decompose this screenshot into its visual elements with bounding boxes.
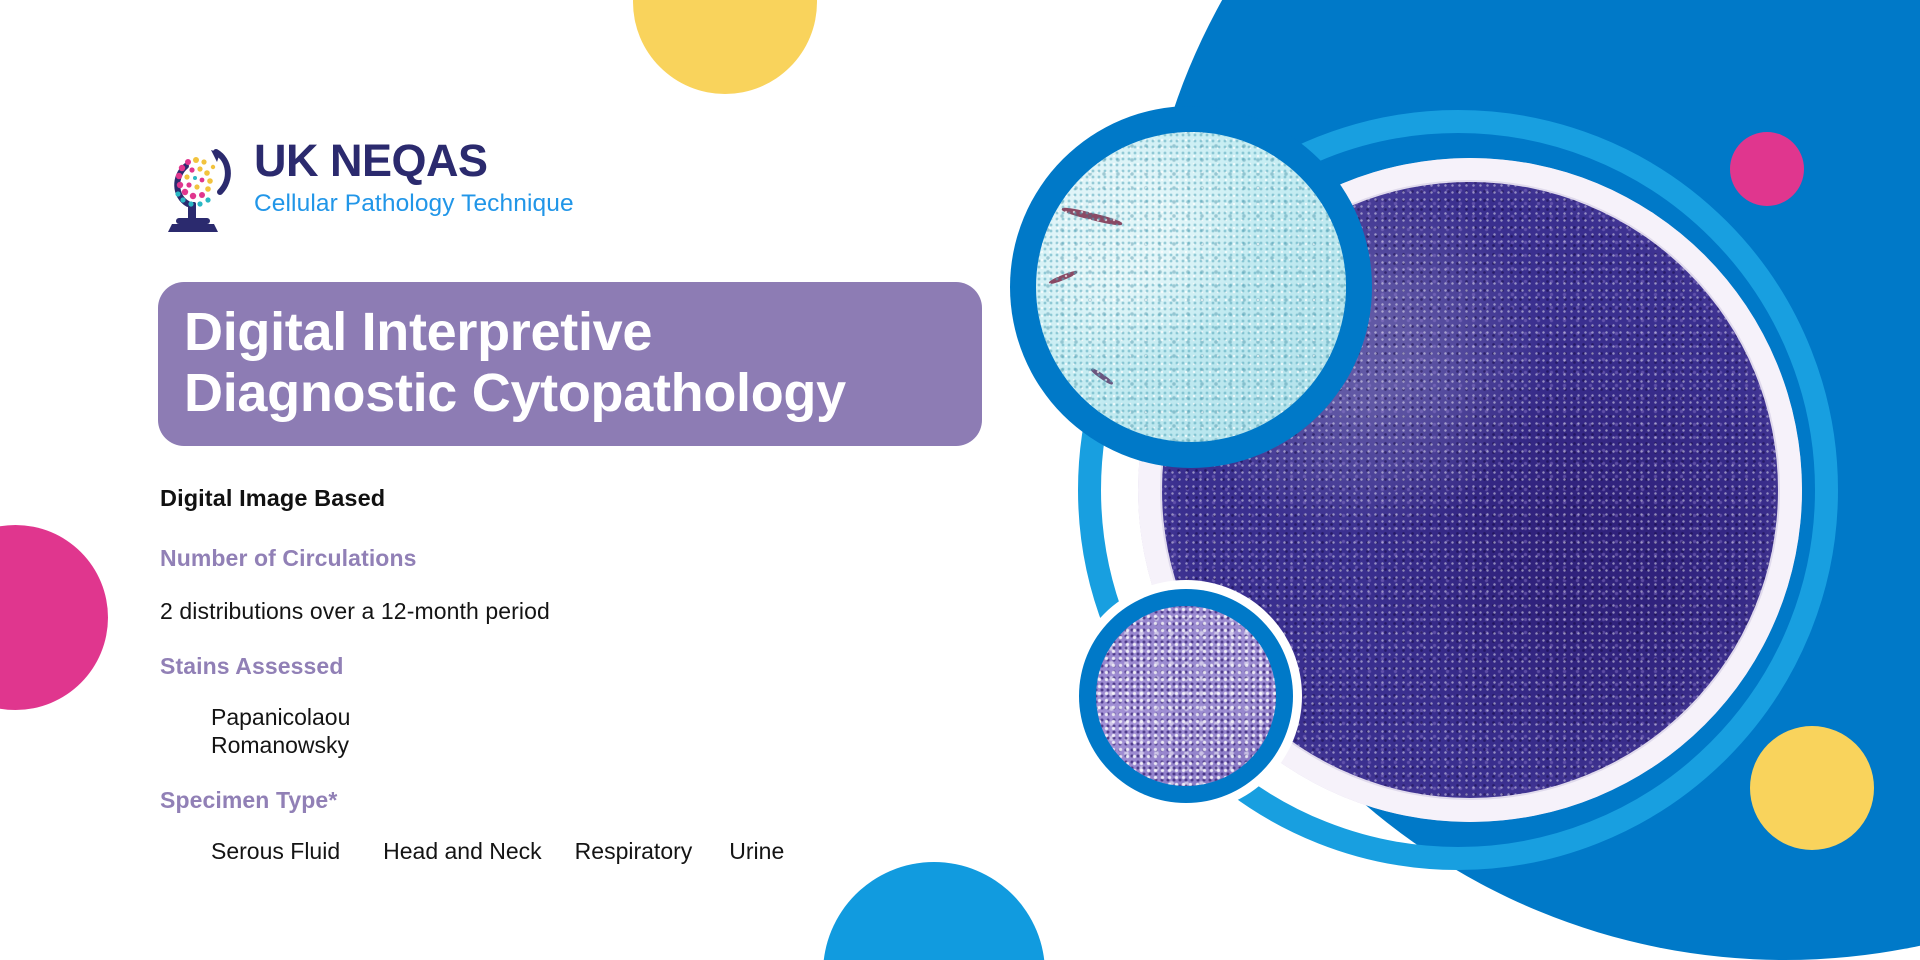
microscope-dots-icon <box>158 140 242 232</box>
logo-subtitle: Cellular Pathology Technique <box>254 192 574 217</box>
list-item: Respiratory <box>575 838 693 865</box>
specimen-list: Serous Fluid Head and Neck Respiratory U… <box>211 838 784 865</box>
inset-teal-disc <box>1036 132 1346 442</box>
title-line-1: Digital Interpretive <box>184 302 982 363</box>
stains-heading: Stains Assessed <box>160 653 343 680</box>
stains-list: Papanicolaou Romanowsky <box>211 703 350 759</box>
list-item: Urine <box>729 838 784 865</box>
format-label: Digital Image Based <box>160 485 385 512</box>
inset-teal-streak-3 <box>1090 367 1114 386</box>
uk-neqas-logo: UK NEQAS Cellular Pathology Technique <box>158 138 574 232</box>
title-line-2: Diagnostic Cytopathology <box>184 363 982 424</box>
circulations-value: 2 distributions over a 12-month period <box>160 598 550 625</box>
poster-canvas: UK NEQAS Cellular Pathology Technique Di… <box>0 0 1920 960</box>
inset-purple-ring <box>1079 589 1293 803</box>
list-item: Papanicolaou <box>211 703 350 731</box>
inset-cytology-image-teal <box>1010 106 1372 468</box>
list-item: Head and Neck <box>383 838 542 865</box>
inset-teal-streak-1 <box>1061 205 1123 227</box>
list-item: Romanowsky <box>211 731 350 759</box>
specimen-heading: Specimen Type* <box>160 787 337 814</box>
inset-cytology-image-purple <box>1070 580 1302 812</box>
content-column: UK NEQAS Cellular Pathology Technique Di… <box>0 0 1000 960</box>
logo-wordmark: UK NEQAS <box>254 138 574 183</box>
logo-text-block: UK NEQAS Cellular Pathology Technique <box>254 138 574 217</box>
inset-purple-disc <box>1096 606 1276 786</box>
inset-teal-streak-2 <box>1049 269 1079 285</box>
list-item: Serous Fluid <box>211 838 340 865</box>
yellow-decor-circle-right <box>1750 726 1874 850</box>
title-banner: Digital Interpretive Diagnostic Cytopath… <box>158 282 982 446</box>
circulations-heading: Number of Circulations <box>160 545 417 572</box>
pink-decor-circle-right <box>1730 132 1804 206</box>
